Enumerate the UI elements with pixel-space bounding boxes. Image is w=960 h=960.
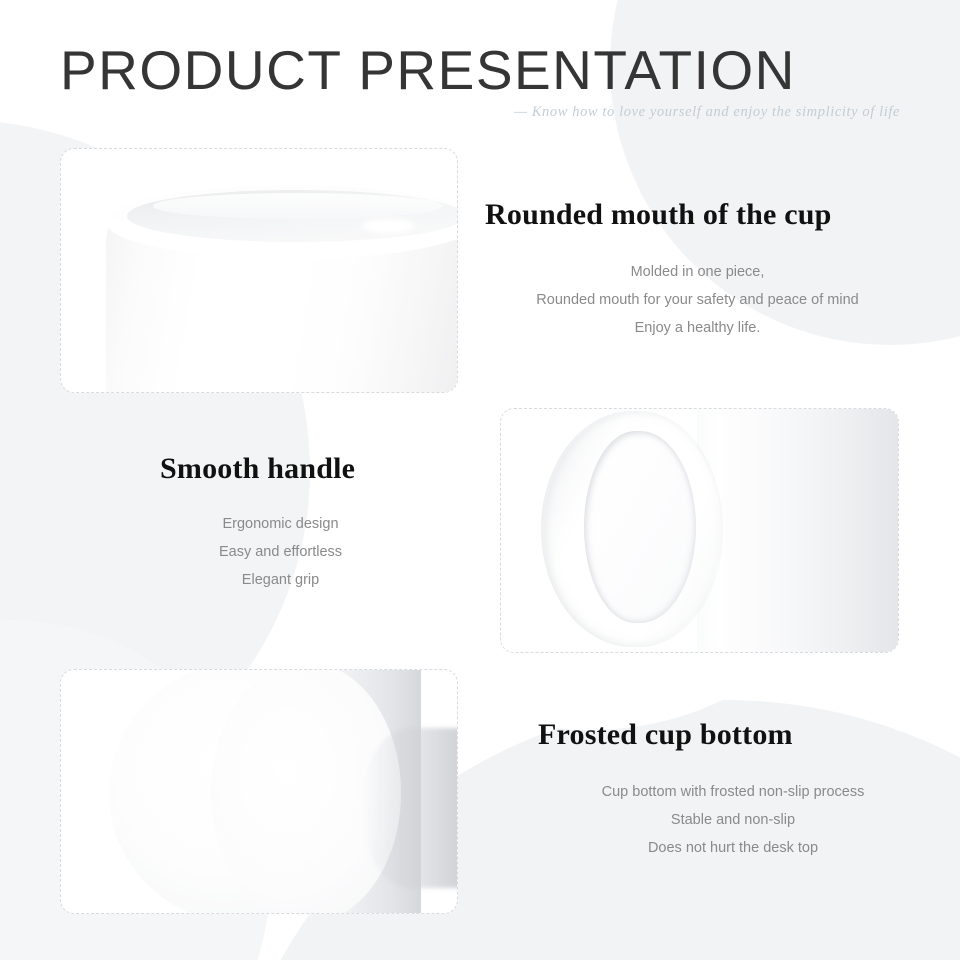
feature-heading: Frosted cup bottom [538, 718, 928, 752]
product-image-panel-bottom [60, 669, 458, 914]
feature-description-line: Elegant grip [68, 566, 493, 594]
cup-bottom-edge-shading [361, 728, 458, 888]
mug-handle-shading [541, 411, 723, 647]
feature-heading: Smooth handle [68, 452, 493, 486]
product-image-panel-rim [60, 148, 458, 393]
feature-description-line: Does not hurt the desk top [538, 834, 928, 862]
feature-description-line: Rounded mouth for your safety and peace … [485, 286, 910, 314]
feature-description-line: Cup bottom with frosted non-slip process [538, 778, 928, 806]
feature-description: Ergonomic design Easy and effortless Ele… [68, 510, 493, 594]
mug-body-shape [697, 408, 899, 653]
feature-description-line: Enjoy a healthy life. [485, 314, 910, 342]
feature-heading: Rounded mouth of the cup [485, 198, 910, 232]
feature-block-rim: Rounded mouth of the cup Molded in one p… [485, 198, 910, 342]
feature-description-line: Stable and non-slip [538, 806, 928, 834]
feature-description-line: Ergonomic design [68, 510, 493, 538]
feature-description-line: Easy and effortless [68, 538, 493, 566]
product-presentation-page: PRODUCT PRESENTATION — Know how to love … [0, 0, 960, 960]
feature-description-line: Molded in one piece, [485, 258, 910, 286]
cup-rim-highlight [153, 193, 443, 219]
feature-description: Cup bottom with frosted non-slip process… [538, 778, 928, 862]
page-title: PRODUCT PRESENTATION [60, 38, 796, 102]
page-header: PRODUCT PRESENTATION — Know how to love … [0, 0, 960, 135]
page-subtitle: — Know how to love yourself and enjoy th… [0, 104, 900, 121]
cup-specular-highlight [361, 219, 415, 233]
feature-block-handle: Smooth handle Ergonomic design Easy and … [68, 452, 493, 594]
feature-description: Molded in one piece, Rounded mouth for y… [485, 258, 910, 342]
feature-block-bottom: Frosted cup bottom Cup bottom with frost… [538, 718, 928, 862]
product-image-panel-handle [500, 408, 899, 653]
